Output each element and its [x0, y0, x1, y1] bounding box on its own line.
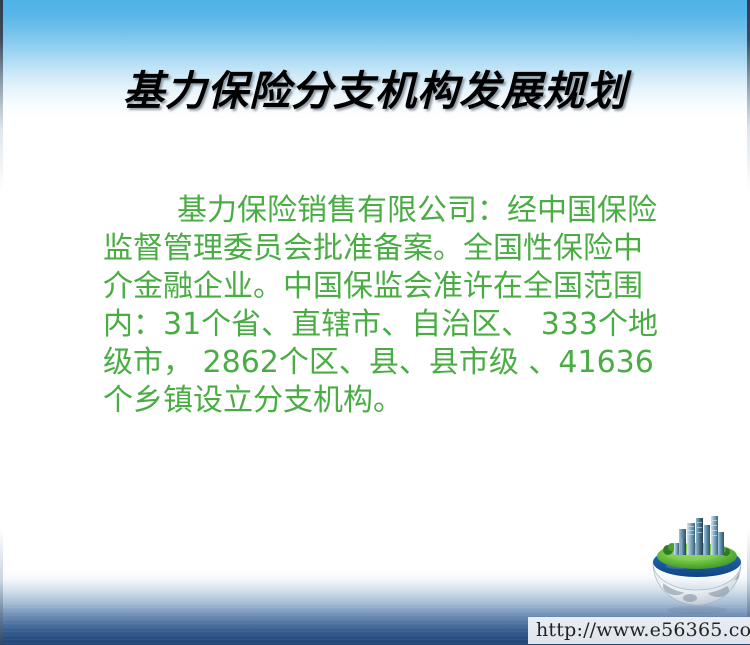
presentation-slide: 基力保险分支机构发展规划 基力保险销售有限公司：经中国保险监督管理委员会批准备案…	[0, 0, 750, 645]
eco-city-globe-logo	[648, 512, 746, 616]
slide-title: 基力保险分支机构发展规划	[0, 57, 750, 117]
globe-city-buildings	[674, 516, 724, 555]
slide-body-paragraph: 基力保险销售有限公司：经中国保险监督管理委员会批准备案。全国性保险中介金融企业。…	[103, 192, 659, 420]
site-watermark: http://www.e56365.com	[528, 617, 750, 644]
